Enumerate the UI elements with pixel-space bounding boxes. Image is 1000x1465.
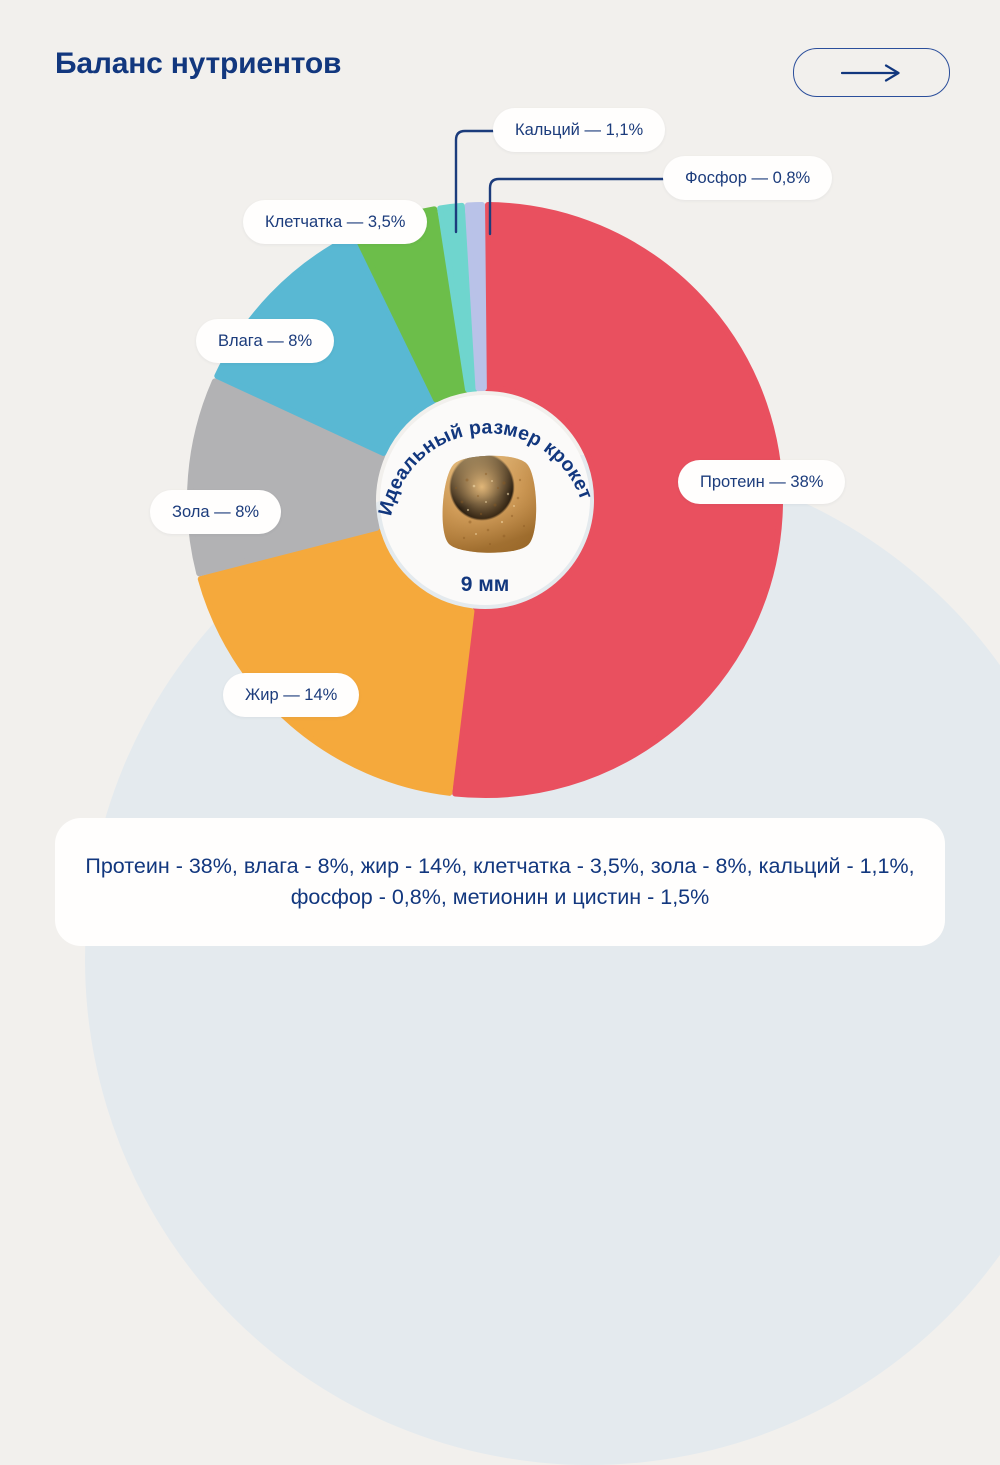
label-calcium: Кальций — 1,1%	[493, 108, 665, 152]
label-ash: Зола — 8%	[150, 490, 281, 534]
kibble-size-label: 9 мм	[380, 573, 590, 597]
label-fiber: Клетчатка — 3,5%	[243, 200, 427, 244]
infographic-canvas: Баланс нутриентов Идеальный размер кро	[0, 0, 1000, 1000]
summary-text: Протеин - 38%, влага - 8%, жир - 14%, кл…	[85, 851, 915, 913]
label-phosphorus: Фосфор — 0,8%	[663, 156, 832, 200]
label-protein: Протеин — 38%	[678, 460, 845, 504]
summary-card: Протеин - 38%, влага - 8%, жир - 14%, кл…	[55, 818, 945, 946]
kibble-image	[434, 450, 544, 558]
label-fat: Жир — 14%	[223, 673, 359, 717]
label-moisture: Влага — 8%	[196, 319, 334, 363]
